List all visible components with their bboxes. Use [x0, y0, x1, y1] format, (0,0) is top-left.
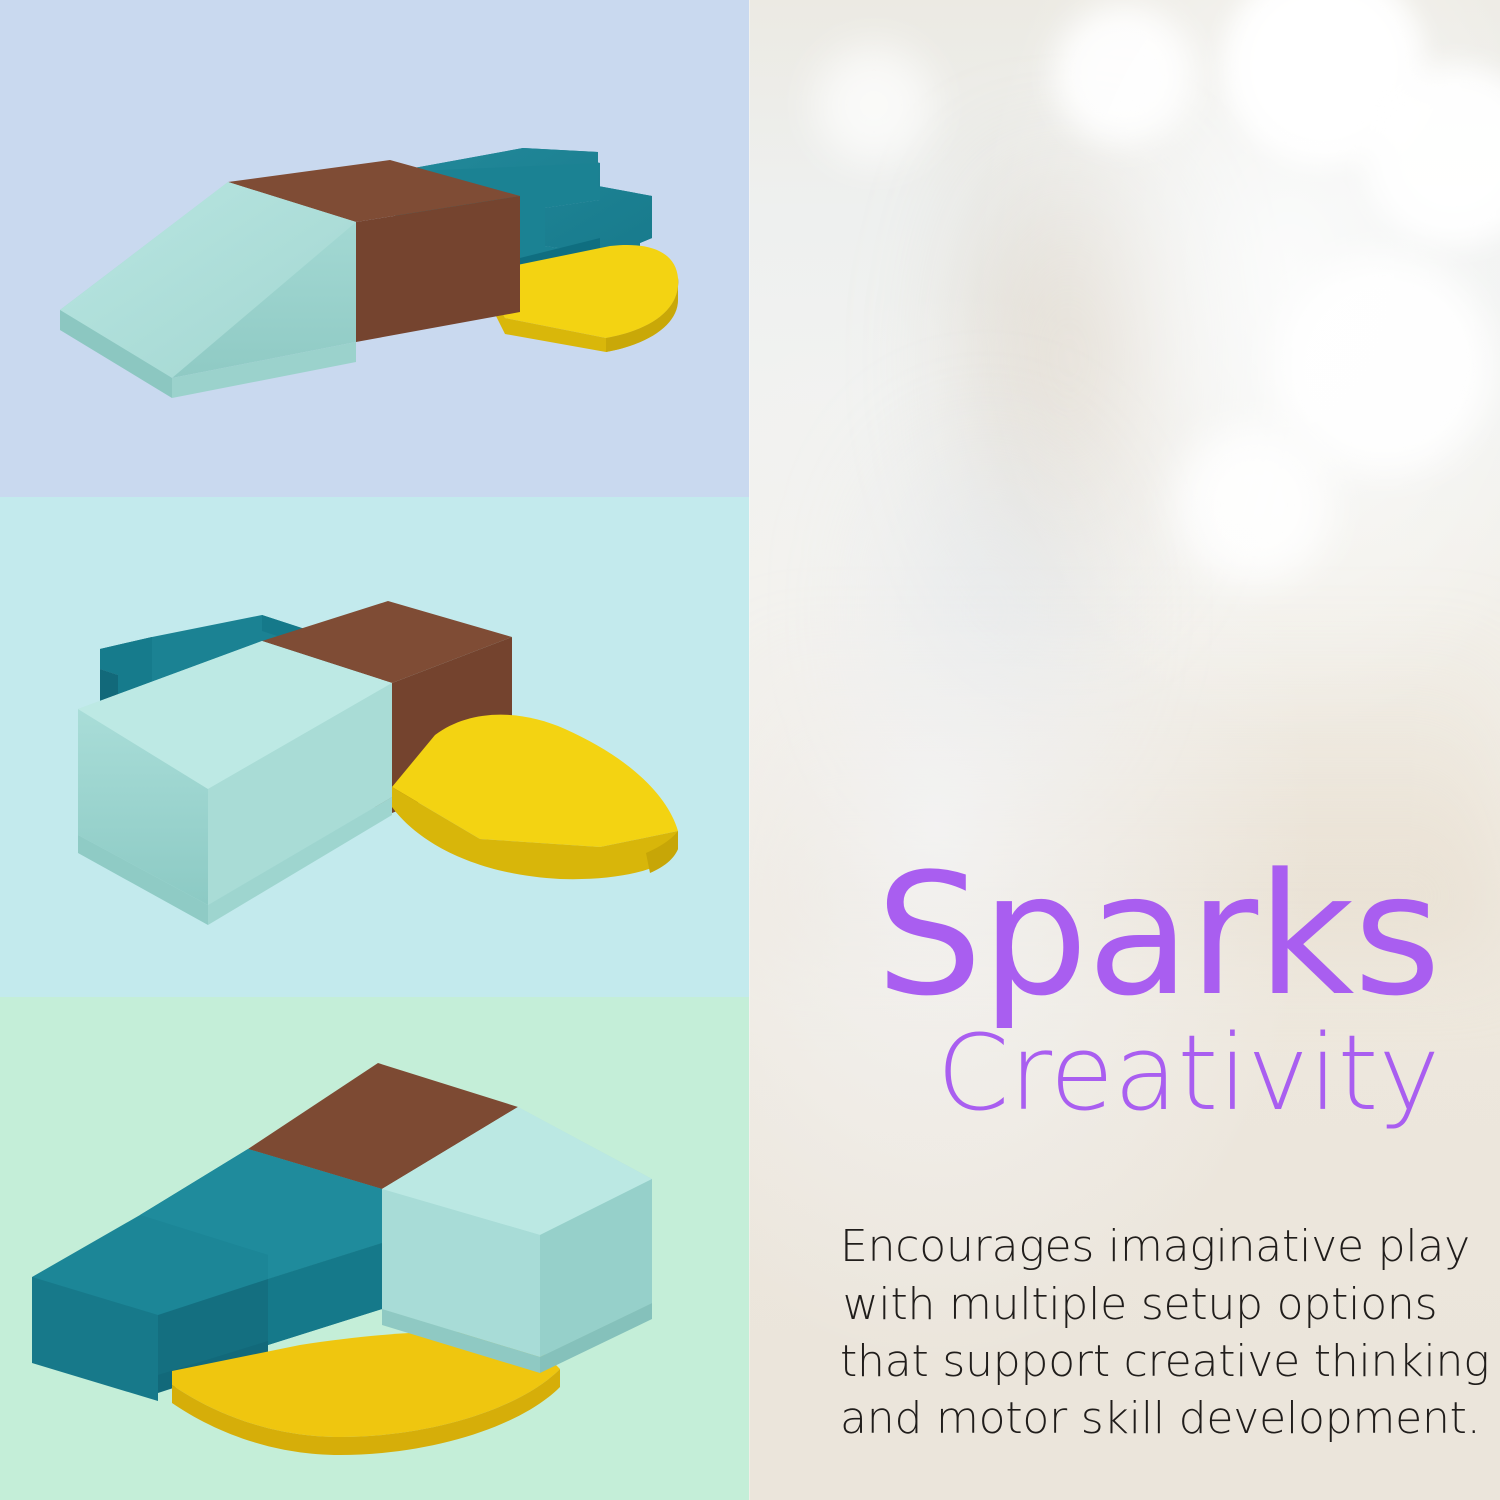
bokeh-highlight: [809, 40, 939, 170]
body-line-3: that support creative thinking: [840, 1333, 1440, 1390]
subheadline-creativity: Creativity: [840, 1020, 1440, 1126]
bokeh-highlight: [1219, 0, 1429, 170]
bokeh-highlight: [1359, 60, 1500, 250]
column-divider: [749, 0, 750, 1500]
product-marketing-image: Sparks Creativity Encourages imaginative…: [0, 0, 1500, 1500]
product-photo-column: [0, 0, 749, 1500]
body-line-4: and motor skill development.: [840, 1390, 1440, 1447]
foam-set-arrangement-3: [0, 997, 749, 1500]
body-line-1: Encourages imaginative play: [840, 1218, 1440, 1275]
blurred-subject-shape-secondary: [869, 400, 1129, 820]
product-photo-panel-3: [0, 997, 749, 1500]
bokeh-highlight: [1169, 420, 1339, 590]
bokeh-highlight: [1269, 250, 1499, 480]
marketing-copy-panel: Sparks Creativity Encourages imaginative…: [749, 0, 1500, 1500]
foam-set-arrangement-2: [0, 497, 749, 997]
marketing-text-block: Sparks Creativity Encourages imaginative…: [840, 855, 1440, 1447]
product-photo-panel-1: [0, 0, 749, 497]
body-line-2: with multiple setup options: [840, 1276, 1440, 1333]
product-photo-panel-2: [0, 497, 749, 997]
foam-set-arrangement-1: [0, 0, 749, 497]
body-description: Encourages imaginative play with multipl…: [840, 1218, 1440, 1447]
bokeh-highlight: [1049, 0, 1199, 150]
blurred-subject-shape: [919, 150, 1219, 670]
headline-sparks: Sparks: [840, 855, 1440, 1016]
